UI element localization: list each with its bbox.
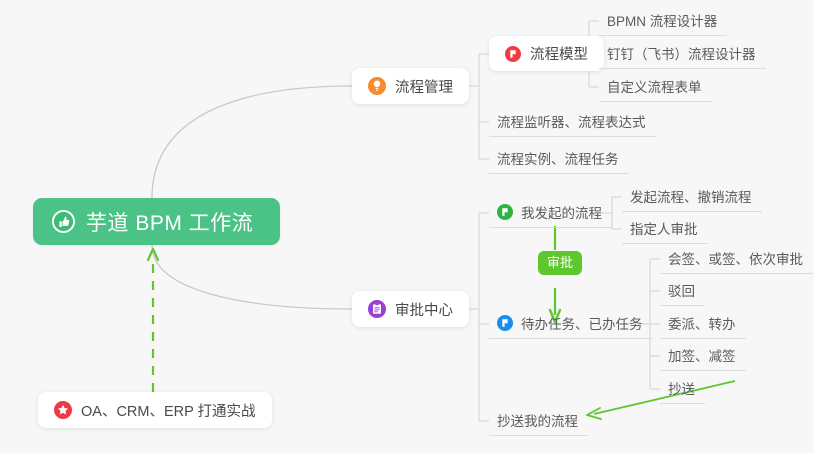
branch-process-management[interactable]: 流程管理 xyxy=(352,68,469,104)
dashed-arrow-to-root xyxy=(148,249,158,392)
leaf-assignee-approval[interactable]: 指定人审批 xyxy=(622,215,708,244)
approval-badge: 审批 xyxy=(538,251,582,275)
leaf-label: 抄送 xyxy=(668,378,695,398)
red-star-icon xyxy=(54,401,72,419)
leaf-add-remove-sign[interactable]: 加签、减签 xyxy=(660,342,746,371)
mindmap-canvas: 芋道 BPM 工作流 流程管理 流程模型 BPMN 流程设计器 钉钉（飞书）流程… xyxy=(0,0,814,453)
leaf-process-instance[interactable]: 流程实例、流程任务 xyxy=(489,145,629,174)
node-process-model[interactable]: 流程模型 xyxy=(489,36,604,71)
leaf-countersign[interactable]: 会签、或签、依次审批 xyxy=(660,245,813,274)
leaf-label: 发起流程、撤销流程 xyxy=(630,186,752,206)
leaf-label: 委派、转办 xyxy=(668,313,736,333)
leaf-reject[interactable]: 驳回 xyxy=(660,277,705,306)
leaf-label: 流程监听器、流程表达式 xyxy=(497,111,646,131)
leaf-process-listener[interactable]: 流程监听器、流程表达式 xyxy=(489,108,656,137)
leaf-label: 会签、或签、依次审批 xyxy=(668,248,803,268)
bottom-note-label: OA、CRM、ERP 打通实战 xyxy=(81,400,256,421)
leaf-delegate-transfer[interactable]: 委派、转办 xyxy=(660,310,746,339)
leaf-cc[interactable]: 抄送 xyxy=(660,375,705,404)
leaf-bpmn-designer[interactable]: BPMN 流程设计器 xyxy=(599,7,727,36)
leaf-label: 指定人审批 xyxy=(630,218,698,238)
leaf-start-cancel-process[interactable]: 发起流程、撤销流程 xyxy=(622,183,762,212)
root-label: 芋道 BPM 工作流 xyxy=(86,207,253,237)
leaf-label: 我发起的流程 xyxy=(521,202,602,222)
leaf-label: 自定义流程表单 xyxy=(607,76,702,96)
node-my-initiated-processes[interactable]: 我发起的流程 xyxy=(489,199,612,228)
thumbs-up-icon xyxy=(51,209,76,234)
leaf-label: 钉钉（飞书）流程设计器 xyxy=(607,43,756,63)
leaf-cc-to-me[interactable]: 抄送我的流程 xyxy=(489,407,588,436)
leaf-dingtalk-designer[interactable]: 钉钉（飞书）流程设计器 xyxy=(599,40,766,69)
bottom-note-card[interactable]: OA、CRM、ERP 打通实战 xyxy=(38,392,272,428)
branch-label: 审批中心 xyxy=(395,299,453,320)
clipboard-icon xyxy=(368,300,386,318)
leaf-label: 驳回 xyxy=(668,280,695,300)
approval-badge-label: 审批 xyxy=(547,255,573,270)
lightbulb-icon xyxy=(368,77,386,95)
node-todo-done-tasks[interactable]: 待办任务、已办任务 xyxy=(489,310,653,339)
leaf-label: 流程实例、流程任务 xyxy=(497,148,619,168)
green-flag-icon xyxy=(497,204,513,220)
leaf-label: 加签、减签 xyxy=(668,345,736,365)
leaf-label: BPMN 流程设计器 xyxy=(607,10,717,30)
node-label: 流程模型 xyxy=(530,43,588,64)
branch-label: 流程管理 xyxy=(395,76,453,97)
root-node[interactable]: 芋道 BPM 工作流 xyxy=(33,198,280,245)
leaf-custom-form[interactable]: 自定义流程表单 xyxy=(599,73,712,102)
branch-approval-center[interactable]: 审批中心 xyxy=(352,291,469,327)
red-flag-icon xyxy=(505,46,521,62)
leaf-label: 抄送我的流程 xyxy=(497,410,578,430)
leaf-label: 待办任务、已办任务 xyxy=(521,313,643,333)
blue-flag-icon xyxy=(497,315,513,331)
